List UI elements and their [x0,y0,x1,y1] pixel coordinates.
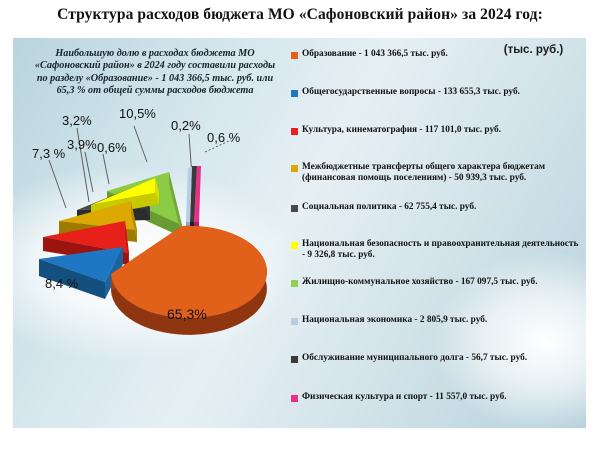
legend-item-education[interactable]: Образование - 1 043 366,5 тыс. руб. [291,49,583,60]
legend-item-label: Обслуживание муниципального долга - 56,7… [302,353,527,364]
pie-label-10-5: 10,5% [119,106,156,121]
pie-label-3-2: 3,2% [62,113,92,128]
highlight-note: Наибольшую долю в расходах бюджета МО «С… [31,48,279,98]
slide: Структура расходов бюджета МО «Сафоновск… [0,0,600,450]
legend-item-label: Социальная политика - 62 755,4 тыс. руб. [302,202,476,213]
legend-item-label: Физическая культура и спорт - 11 557,0 т… [302,392,507,403]
legend-item-social-policy[interactable]: Социальная политика - 62 755,4 тыс. руб. [291,202,583,213]
legend-swatch-icon [291,242,298,249]
legend-item-label: Межбюджетные трансферты общего характера… [302,162,583,185]
legend-item-culture[interactable]: Культура, кинематография - 117 101,0 тыс… [291,125,583,136]
legend-swatch-icon [291,165,298,172]
legend-item-debt-service[interactable]: Обслуживание муниципального долга - 56,7… [291,353,583,364]
legend-item-label: Общегосударственные вопросы - 133 655,3 … [302,87,520,98]
legend-item-label: Жилищно-коммунальное хозяйство - 167 097… [302,277,538,288]
legend-swatch-icon [291,128,298,135]
content-panel: Наибольшую долю в расходах бюджета МО «С… [13,38,586,428]
pie-label-0-6-security: 0,6% [97,140,127,155]
chart-legend: Образование - 1 043 366,5 тыс. руб. Обще… [291,43,583,423]
legend-item-housing-utilities[interactable]: Жилищно-коммунальное хозяйство - 167 097… [291,277,583,288]
legend-swatch-icon [291,318,298,325]
legend-item-general-government[interactable]: Общегосударственные вопросы - 133 655,3 … [291,87,583,98]
pie-chart: 3,2% 10,5% 0,2% 0,6 % 3,9% 0,6% 7,3 % 8,… [19,104,287,404]
pie-label-0-2: 0,2% [171,118,201,133]
legend-swatch-icon [291,205,298,212]
pie-label-65-3: 65,3% [167,306,207,322]
legend-swatch-icon [291,52,298,59]
pie-slice-general-government[interactable] [39,247,123,299]
legend-item-label: Образование - 1 043 366,5 тыс. руб. [302,49,448,60]
legend-swatch-icon [291,395,298,402]
legend-swatch-icon [291,90,298,97]
legend-item-label: Национальная экономика - 2 805,9 тыс. ру… [302,315,487,326]
legend-swatch-icon [291,280,298,287]
legend-item-label: Национальная безопасность и правоохранит… [302,239,583,262]
legend-swatch-icon [291,356,298,363]
pie-label-3-9: 3,9% [67,137,97,152]
legend-item-national-economy[interactable]: Национальная экономика - 2 805,9 тыс. ру… [291,315,583,326]
pie-label-8-4: 8,4 % [45,276,78,291]
pie-label-7-3: 7,3 % [32,146,65,161]
legend-item-sport[interactable]: Физическая культура и спорт - 11 557,0 т… [291,392,583,403]
page-title: Структура расходов бюджета МО «Сафоновск… [0,6,600,24]
legend-item-national-security[interactable]: Национальная безопасность и правоохранит… [291,239,583,262]
legend-item-label: Культура, кинематография - 117 101,0 тыс… [302,125,501,136]
legend-item-intergovernmental-transfers[interactable]: Межбюджетные трансферты общего характера… [291,162,583,185]
pie-label-0-6-economy: 0,6 % [207,130,240,145]
